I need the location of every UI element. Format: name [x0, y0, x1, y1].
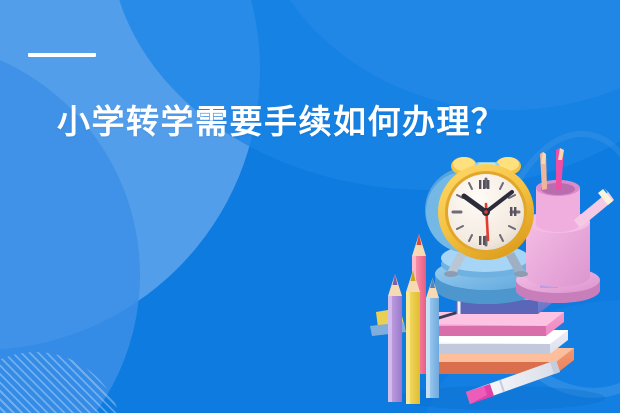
colored-pencils	[370, 234, 439, 404]
school-supplies-illustration	[360, 148, 620, 413]
banner-card: 小学转学需要手续如何办理？	[0, 0, 620, 413]
title-underline-dash	[28, 53, 96, 57]
pencil-yellow	[406, 270, 420, 404]
pencil-blue	[426, 278, 439, 398]
page-title: 小学转学需要手续如何办理？	[57, 103, 506, 141]
pencil-purple	[388, 274, 402, 402]
